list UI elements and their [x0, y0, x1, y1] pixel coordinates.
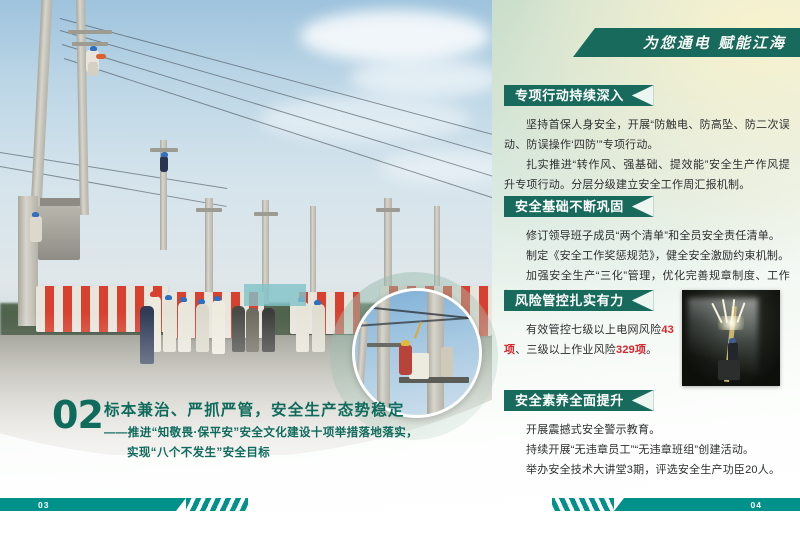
safety-helmet [150, 291, 159, 297]
cloud-shape [300, 10, 490, 62]
worker-figure [399, 345, 412, 375]
footer-stripes-left [186, 498, 248, 511]
cloud-shape [350, 58, 492, 98]
worker-vest [96, 54, 106, 59]
highlight-value-2: 329项 [616, 344, 646, 356]
block-paragraphs-4: 开展震撼式安全警示教育。 持续开展“无违章员工”“无违章班组”创建活动。 举办安… [504, 420, 790, 480]
footer-right-bar: 04 [614, 498, 800, 511]
footer-left-bar: 03 [0, 498, 186, 511]
page-number-right: 04 [751, 500, 762, 510]
paragraph: 坚持首保人身安全，开展“防触电、防高坠、防二次误动、防误操作‘四防’”专项行动。 [504, 115, 790, 155]
ribbon-slogan: 为您通电 赋能江海 [643, 32, 786, 53]
paragraph-with-highlight: 有效管控七级以上电网风险43项、三级以上作业风险329项。 [504, 320, 674, 360]
block-paragraphs-1: 坚持首保人身安全，开展“防触电、防高坠、防二次误动、防误操作‘四防’”专项行动。… [504, 115, 790, 195]
glow [718, 316, 744, 330]
page-number-left: 03 [38, 500, 49, 510]
safety-helmet [32, 212, 39, 217]
section-title: 标本兼治、严抓严管，安全生产态势稳定 [104, 398, 405, 420]
pole-crossarm [196, 208, 222, 212]
content-block-4: 安全素养全面提升 开展震撼式安全警示教育。 持续开展“无违章员工”“无违章班组”… [504, 390, 790, 480]
safety-helmet [314, 300, 321, 305]
footer-stripes-right [552, 498, 614, 511]
paragraph-mid: 、三级以上作业风险 [515, 344, 616, 356]
paragraph: 扎实推进“转作风、强基础、提效能”安全生产作风提升专项行动。分层分级建立安全工作… [504, 155, 790, 195]
section-subtitle-line2: 实现“八个不发生”安全目标 [127, 444, 270, 460]
transformer-box [38, 206, 80, 260]
worker-figure [30, 216, 42, 242]
paragraph: 持续开展“无违章员工”“无违章班组”创建活动。 [504, 440, 790, 460]
content-block-3: 风险管控扎实有力 有效管控七级以上电网风险43项、三级以上作业风险329项。 [504, 290, 674, 360]
worker-figure [441, 347, 453, 377]
brochure-page: 02 标本兼治、严抓严管，安全生产态势稳定 ——推进“知敬畏·保平安”安全文化建… [0, 0, 800, 542]
paragraph: 制定《安全工作奖惩规范》，健全安全激励约束机制。 [504, 246, 790, 266]
pole-crossarm [376, 208, 400, 212]
safety-helmet [180, 297, 187, 302]
banner-board [244, 284, 306, 306]
transformer-top [40, 198, 80, 206]
block-tag-1: 专项行动持续深入 [504, 85, 654, 106]
pole-crossarm [72, 42, 108, 46]
safety-helmet [401, 340, 410, 346]
pole-crossarm [367, 343, 401, 347]
footer-right: 04 [552, 498, 800, 511]
paragraph-post: 。 [646, 344, 657, 356]
block-tag-2: 安全基础不断巩固 [504, 196, 654, 217]
section-number: 02 [52, 393, 103, 437]
paragraph-pre: 有效管控七级以上电网风险 [526, 324, 661, 336]
footer-left: 03 [0, 498, 248, 511]
paragraph: 举办安全技术大讲堂3期，评选安全生产功臣20人。 [504, 460, 790, 480]
equipment-box [409, 353, 429, 379]
content-block-1: 专项行动持续深入 坚持首保人身安全，开展“防触电、防高坠、防二次误动、防误操作‘… [504, 85, 790, 195]
worker-figure [160, 156, 168, 172]
safety-helmet [729, 338, 736, 343]
safety-helmet [214, 296, 221, 301]
utility-pole [310, 206, 316, 302]
block-paragraphs-3: 有效管控七级以上电网风险43项、三级以上作业风险329项。 [504, 320, 674, 360]
safety-helmet [198, 299, 205, 304]
block-tag-3: 风险管控扎实有力 [504, 290, 654, 311]
section-subtitle-line1: ——推进“知敬畏·保平安”安全文化建设十项举措落地落实， [104, 424, 418, 440]
top-ribbon-banner: 为您通电 赋能江海 [573, 28, 800, 57]
block-tag-4: 安全素养全面提升 [504, 390, 654, 411]
pole-crossarm [68, 30, 112, 34]
pole-crossarm [254, 212, 278, 216]
safety-helmet [90, 46, 97, 51]
safety-helmet [161, 152, 168, 157]
paragraph: 开展震撼式安全警示教育。 [504, 420, 790, 440]
paragraph: 修订领导班子成员“两个清单”和全员安全责任清单。 [504, 226, 790, 246]
safety-helmet [165, 295, 172, 300]
worker-figure [88, 62, 98, 76]
bucket-basket [718, 360, 740, 380]
